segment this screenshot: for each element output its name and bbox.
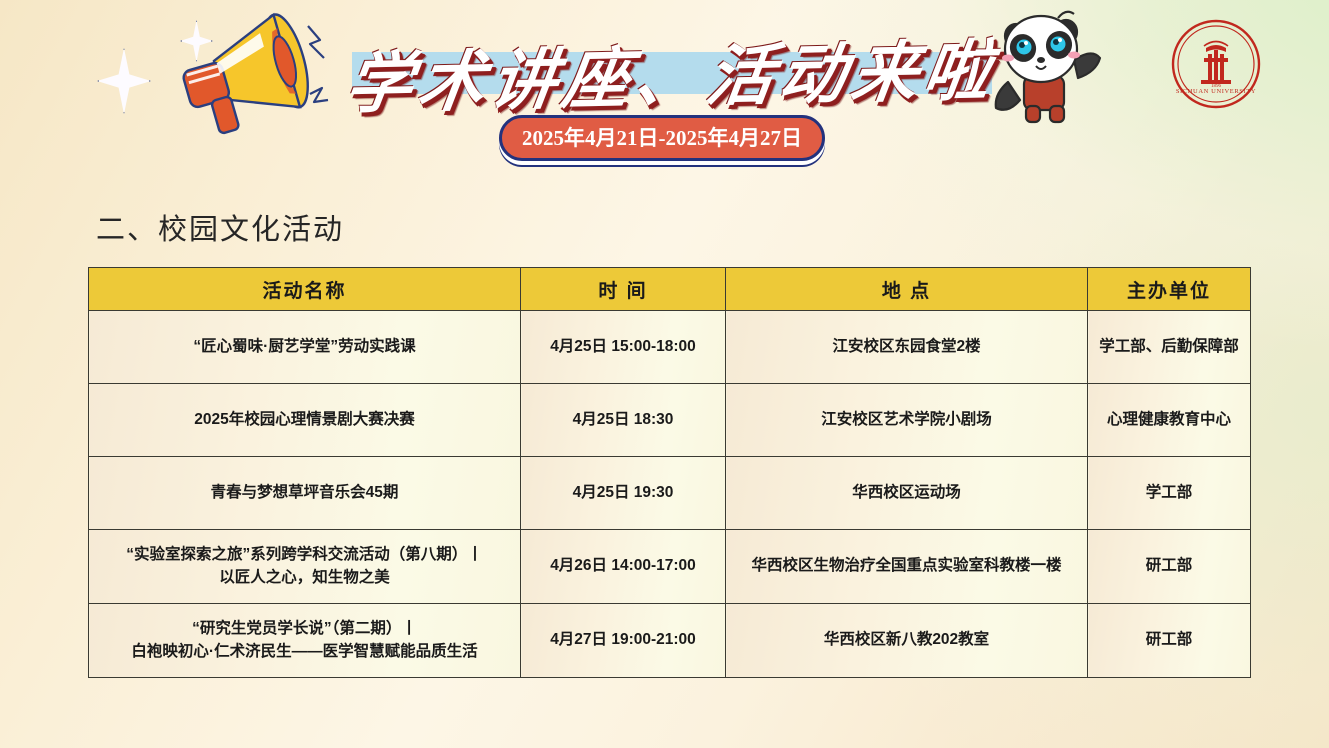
column-header-location: 地 点 xyxy=(726,268,1088,311)
panda-mascot-icon xyxy=(988,6,1106,128)
activity-name-line-1: 2025年校园心理情景剧大赛决赛 xyxy=(97,409,512,431)
activity-name-line-1: 青春与梦想草坪音乐会45期 xyxy=(97,482,512,504)
column-header-time: 时 间 xyxy=(521,268,726,311)
cell-location: 华西校区新八教202教室 xyxy=(726,604,1088,678)
cell-organizer: 心理健康教育中心 xyxy=(1088,384,1251,457)
header-banner: 学术讲座、活动来啦 2025年4月21日-2025年4月27日 xyxy=(0,0,1329,178)
seal-year-text: 1896 xyxy=(1211,84,1222,89)
section-heading: 二、校园文化活动 xyxy=(96,206,344,248)
cell-location: 华西校区生物治疗全国重点实验室科教楼一楼 xyxy=(726,530,1088,604)
activity-name-line-2: 以匠人之心，知生物之美 xyxy=(97,567,512,589)
university-seal-logo: SICHUAN UNIVERSITY 1896 xyxy=(1170,18,1262,110)
cell-activity-name: “研究生党员学长说”（第二期）丨 白袍映初心·仁术济民生——医学智慧赋能品质生活 xyxy=(89,604,521,678)
cell-organizer: 学工部 xyxy=(1088,457,1251,530)
activity-name-line-2: 白袍映初心·仁术济民生——医学智慧赋能品质生活 xyxy=(97,641,512,663)
campus-culture-activity-table: 活动名称 时 间 地 点 主办单位 “匠心蜀味·厨艺学堂”劳动实践课 4月25日… xyxy=(88,267,1251,678)
cell-location: 华西校区运动场 xyxy=(726,457,1088,530)
activity-name-line-1: “实验室探索之旅”系列跨学科交流活动（第八期）丨 xyxy=(97,544,512,566)
cell-activity-name: 2025年校园心理情景剧大赛决赛 xyxy=(89,384,521,457)
cell-organizer: 学工部、后勤保障部 xyxy=(1088,311,1251,384)
banner-title-block: 学术讲座、活动来啦 xyxy=(352,22,992,122)
table-header-row: 活动名称 时 间 地 点 主办单位 xyxy=(89,268,1251,311)
activity-table-wrapper: 活动名称 时 间 地 点 主办单位 “匠心蜀味·厨艺学堂”劳动实践课 4月25日… xyxy=(88,267,1250,678)
table-row: “研究生党员学长说”（第二期）丨 白袍映初心·仁术济民生——医学智慧赋能品质生活… xyxy=(89,604,1251,678)
cell-time: 4月26日 14:00-17:00 xyxy=(521,530,726,604)
banner-title: 学术讲座、活动来啦 xyxy=(344,15,1000,128)
seal-latin-text: SICHUAN UNIVERSITY xyxy=(1176,88,1256,95)
column-header-organizer: 主办单位 xyxy=(1088,268,1251,311)
cell-time: 4月25日 19:30 xyxy=(521,457,726,530)
table-row: 2025年校园心理情景剧大赛决赛 4月25日 18:30 江安校区艺术学院小剧场… xyxy=(89,384,1251,457)
cell-organizer: 研工部 xyxy=(1088,530,1251,604)
column-header-activity-name: 活动名称 xyxy=(89,268,521,311)
cell-location: 江安校区东园食堂2楼 xyxy=(726,311,1088,384)
activity-name-line-1: “研究生党员学长说”（第二期）丨 xyxy=(97,618,512,640)
table-row: “匠心蜀味·厨艺学堂”劳动实践课 4月25日 15:00-18:00 江安校区东… xyxy=(89,311,1251,384)
cell-time: 4月27日 19:00-21:00 xyxy=(521,604,726,678)
table-body: “匠心蜀味·厨艺学堂”劳动实践课 4月25日 15:00-18:00 江安校区东… xyxy=(89,311,1251,678)
cell-location: 江安校区艺术学院小剧场 xyxy=(726,384,1088,457)
table-row: 青春与梦想草坪音乐会45期 4月25日 19:30 华西校区运动场 学工部 xyxy=(89,457,1251,530)
cell-activity-name: 青春与梦想草坪音乐会45期 xyxy=(89,457,521,530)
cell-time: 4月25日 18:30 xyxy=(521,384,726,457)
activity-name-line-1: “匠心蜀味·厨艺学堂”劳动实践课 xyxy=(97,336,512,358)
cell-organizer: 研工部 xyxy=(1088,604,1251,678)
date-range-badge: 2025年4月21日-2025年4月27日 xyxy=(499,115,825,161)
cell-activity-name: “匠心蜀味·厨艺学堂”劳动实践课 xyxy=(89,311,521,384)
megaphone-icon xyxy=(160,8,350,138)
sparkle-star-icon xyxy=(97,48,151,114)
cell-activity-name: “实验室探索之旅”系列跨学科交流活动（第八期）丨 以匠人之心，知生物之美 xyxy=(89,530,521,604)
cell-time: 4月25日 15:00-18:00 xyxy=(521,311,726,384)
table-row: “实验室探索之旅”系列跨学科交流活动（第八期）丨 以匠人之心，知生物之美 4月2… xyxy=(89,530,1251,604)
